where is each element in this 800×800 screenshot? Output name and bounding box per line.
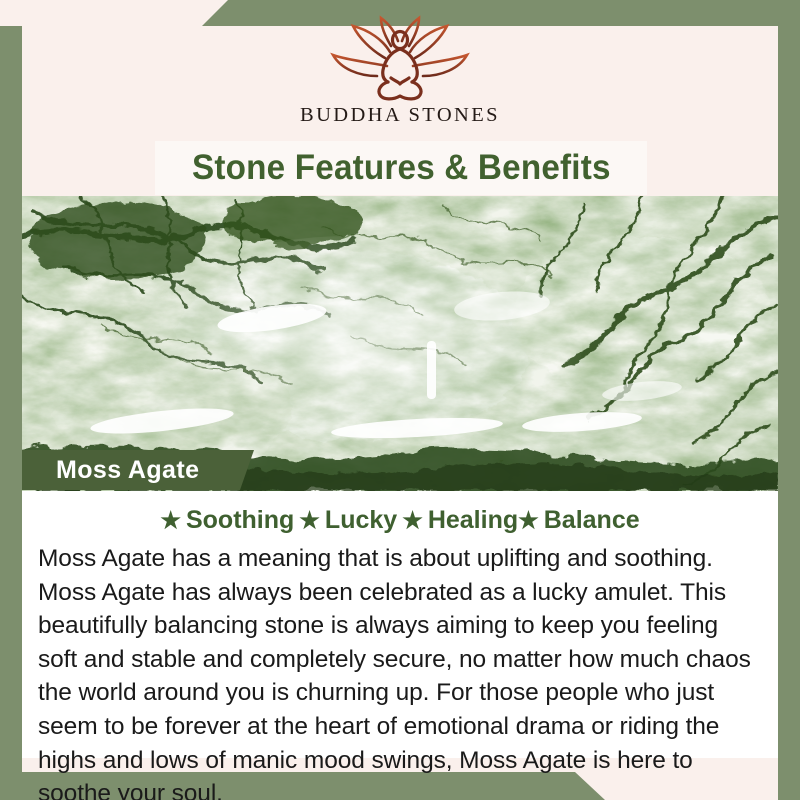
star-icon: ★ <box>402 507 423 533</box>
star-icon: ★ <box>518 507 539 533</box>
star-icon: ★ <box>160 507 181 533</box>
stone-photo <box>22 196 778 491</box>
feature-label: Balance <box>544 506 640 534</box>
feature-label: Healing <box>428 506 518 534</box>
feature-label: Soothing <box>186 506 294 534</box>
feature-label: Lucky <box>325 506 397 534</box>
stone-name-banner: Moss Agate <box>22 450 254 490</box>
star-icon: ★ <box>299 507 320 533</box>
description-card: ★Soothing★Lucky★Healing★Balance Moss Aga… <box>22 491 778 758</box>
feature-list: ★Soothing★Lucky★Healing★Balance <box>34 505 766 535</box>
page-title-plaque: Stone Features & Benefits <box>155 141 647 195</box>
description-text: Moss Agate has a meaning that is about u… <box>34 542 766 800</box>
lotus-meditation-icon <box>325 14 475 102</box>
brand-header: BUDDHA STONES <box>0 0 800 145</box>
brand-name: BUDDHA STONES <box>300 104 500 127</box>
stone-name: Moss Agate <box>56 456 199 485</box>
page-title: Stone Features & Benefits <box>192 148 611 188</box>
stone-info-card: BUDDHA STONES Stone Features & Benefits <box>0 0 800 800</box>
